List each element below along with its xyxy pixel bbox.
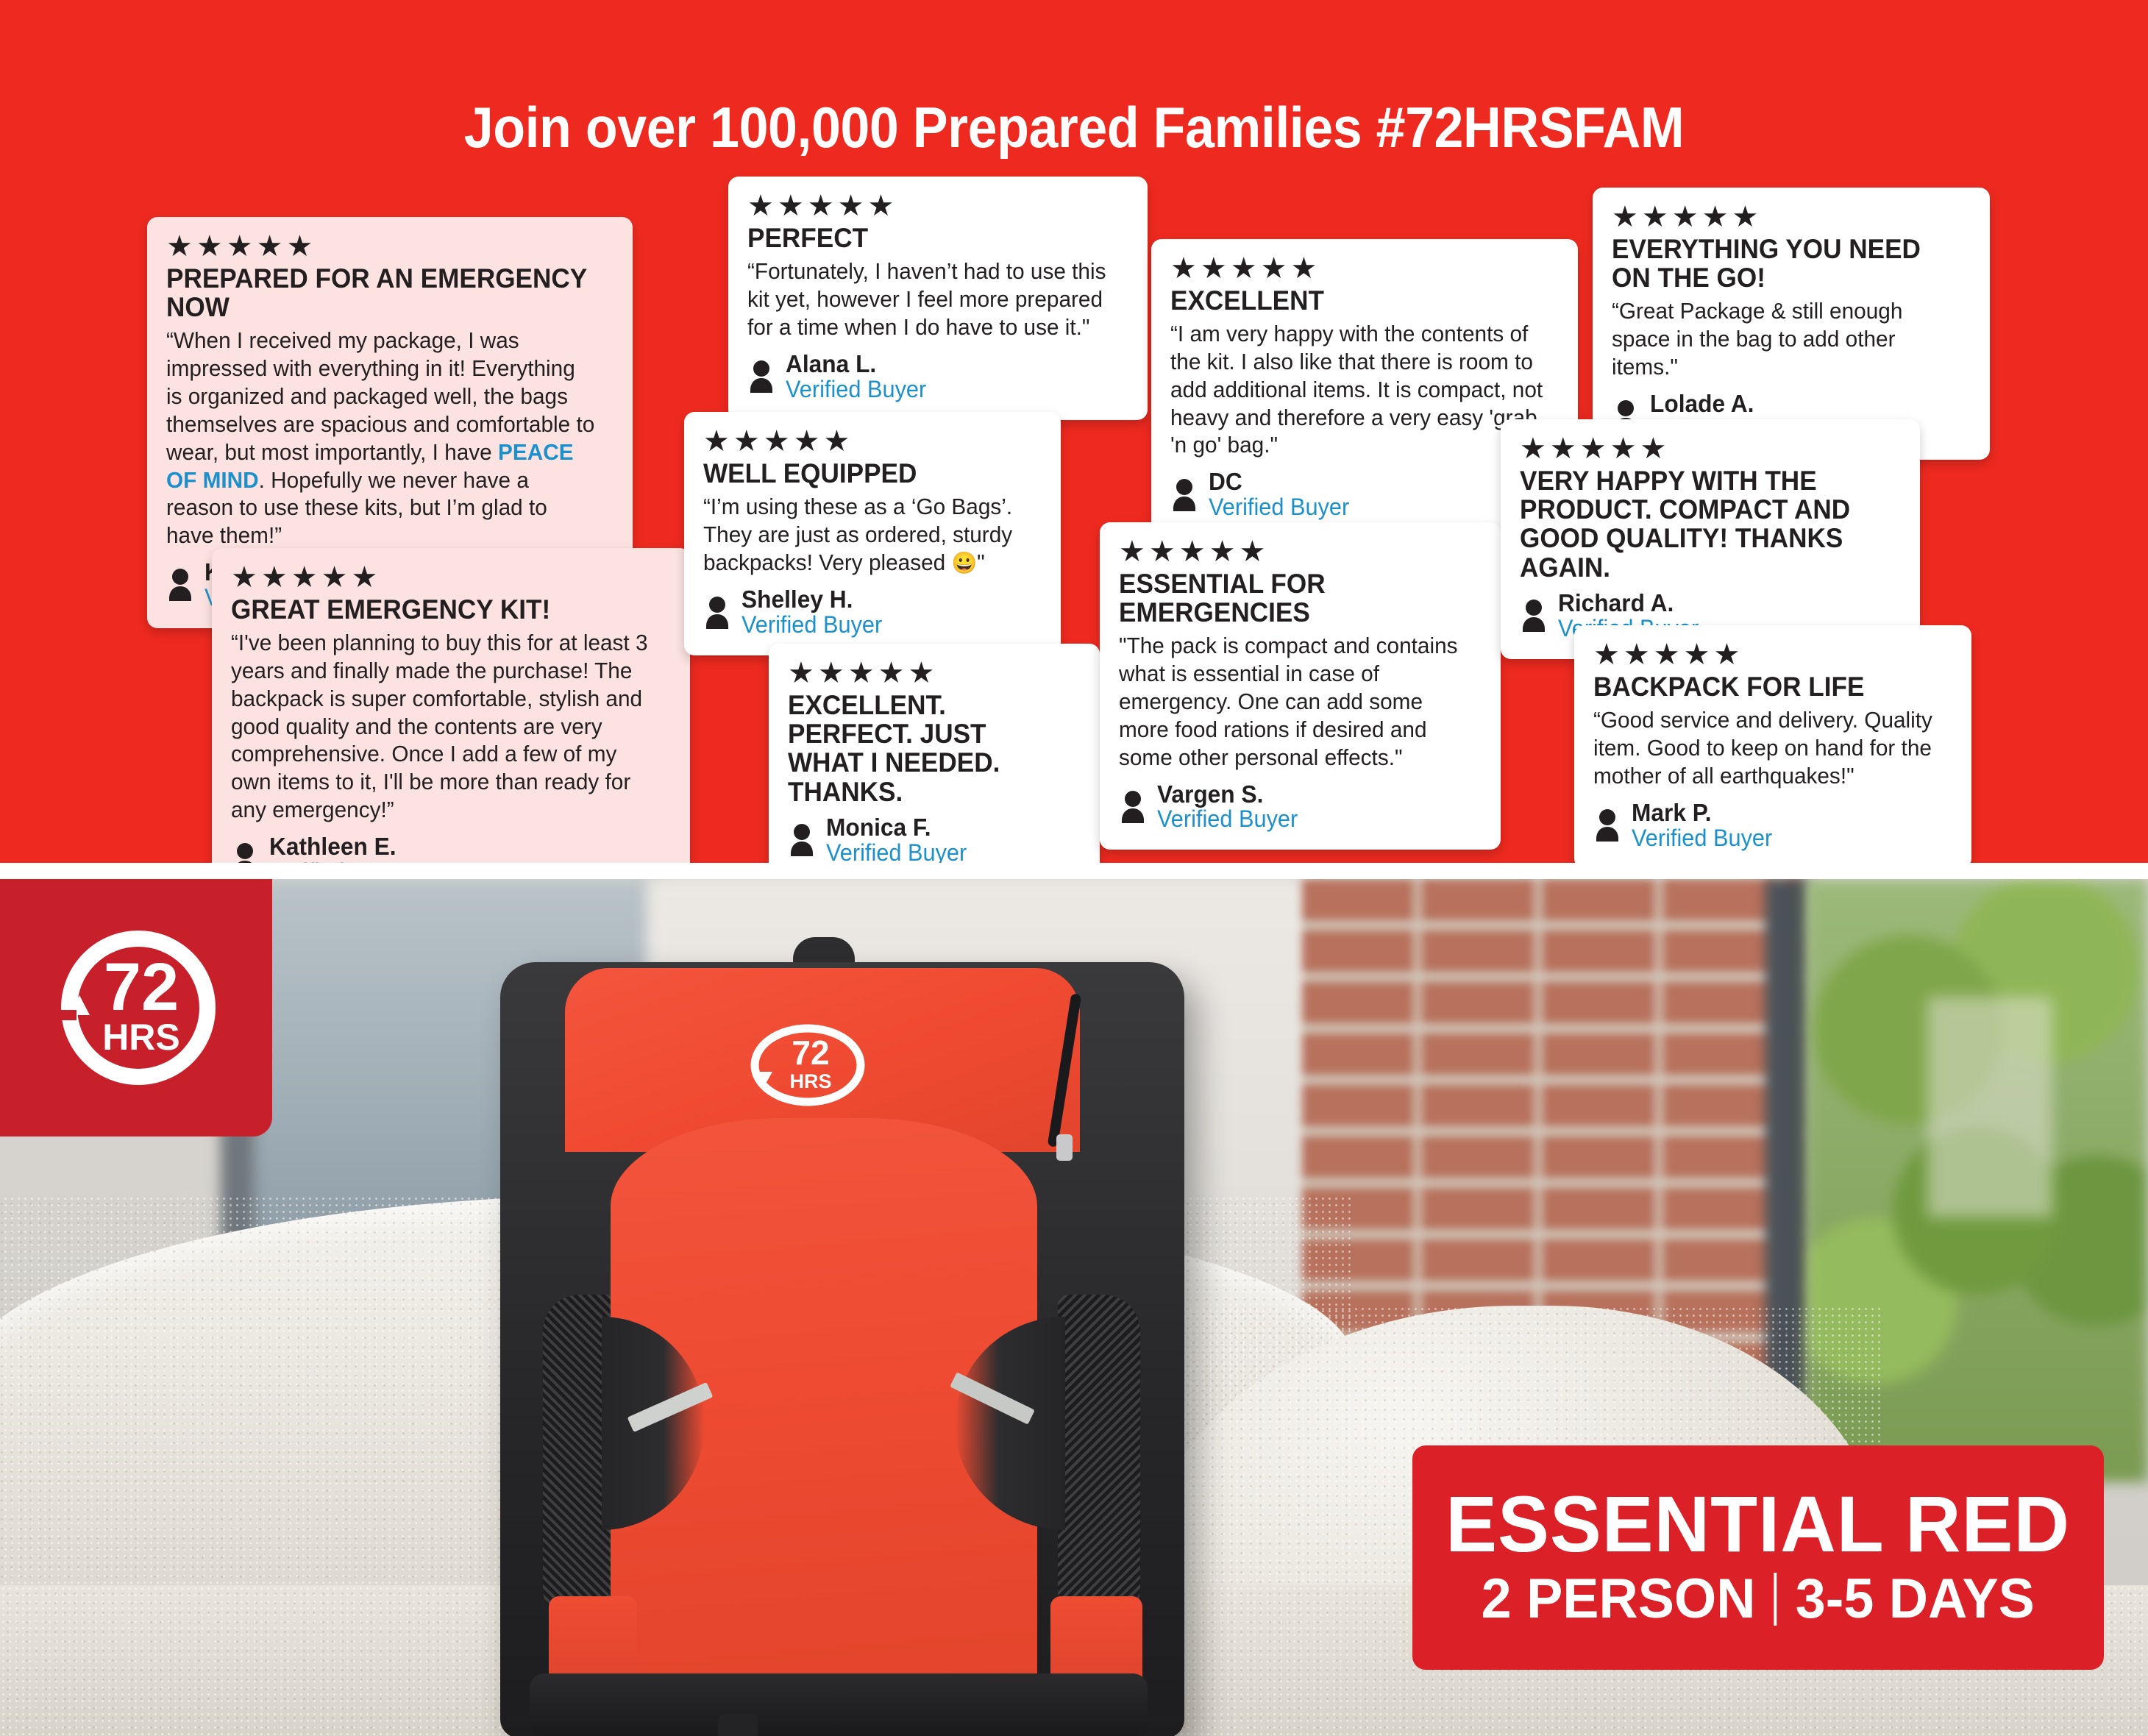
review-title: BACKPACK FOR LIFE xyxy=(1593,672,1935,701)
brand-badge: 72 HRS xyxy=(0,879,272,1136)
review-card[interactable]: ★★★★★ WELL EQUIPPED “I’m using these as … xyxy=(684,412,1061,655)
review-body: “I am very happy with the contents of th… xyxy=(1170,320,1543,459)
review-card[interactable]: ★★★★★ GREAT EMERGENCY KIT! “I've been pl… xyxy=(212,548,690,903)
review-author-name: Richard A. xyxy=(1558,591,1699,616)
review-author-name: DC xyxy=(1209,469,1349,495)
review-body: “When I received my package, I was impre… xyxy=(166,327,596,549)
review-card[interactable]: ★★★★★ EXCELLENT. PERFECT. JUST WHAT I NE… xyxy=(769,644,1100,883)
72hrs-logo-on-bag: 72 HRS xyxy=(743,1019,872,1111)
avatar-icon xyxy=(166,569,194,601)
review-body: “Fortunately, I haven’t had to use this … xyxy=(747,257,1113,341)
star-rating-icon: ★★★★★ xyxy=(1612,204,1971,230)
reviews-panel: Join over 100,000 Prepared Families #72H… xyxy=(0,0,2148,863)
review-author: Mark P. Verified Buyer xyxy=(1593,800,1952,851)
review-body: "The pack is compact and contains what i… xyxy=(1119,632,1467,771)
avatar-icon xyxy=(1520,600,1548,632)
badge-unit: HRS xyxy=(102,1017,180,1058)
bag-logo-unit: HRS xyxy=(789,1070,831,1092)
review-title: VERY HAPPY WITH THE PRODUCT. COMPACT AND… xyxy=(1520,466,1882,582)
product-spec: 2 PERSON 3-5 DAYS xyxy=(1482,1571,2035,1627)
product-duration: 3-5 DAYS xyxy=(1796,1571,2035,1627)
page-title: Join over 100,000 Prepared Families #72H… xyxy=(86,94,2062,161)
verified-buyer-label: Verified Buyer xyxy=(1157,807,1298,832)
verified-buyer-label: Verified Buyer xyxy=(826,841,967,866)
star-rating-icon: ★★★★★ xyxy=(1170,255,1559,282)
review-author: Monica F. Verified Buyer xyxy=(788,815,1081,866)
verified-buyer-label: Verified Buyer xyxy=(786,377,926,402)
star-rating-icon: ★★★★★ xyxy=(1119,538,1482,565)
review-title: EXCELLENT. PERFECT. JUST WHAT I NEEDED. … xyxy=(788,691,1066,806)
review-title: WELL EQUIPPED xyxy=(703,459,1025,488)
product-name-badge: ESSENTIAL RED 2 PERSON 3-5 DAYS xyxy=(1412,1445,2104,1670)
star-rating-icon: ★★★★★ xyxy=(747,193,1128,219)
verified-buyer-label: Verified Buyer xyxy=(742,613,882,638)
review-body-part: " xyxy=(977,549,985,575)
review-body: “Good service and delivery. Quality item… xyxy=(1593,706,1938,789)
product-persons: 2 PERSON xyxy=(1482,1571,1756,1627)
product-name: ESSENTIAL RED xyxy=(1446,1484,2071,1564)
review-author-name: Lolade A. xyxy=(1650,391,1790,417)
review-card[interactable]: ★★★★★ VERY HAPPY WITH THE PRODUCT. COMPA… xyxy=(1501,419,1920,659)
review-author: Shelley H. Verified Buyer xyxy=(703,587,1042,638)
review-author: Vargen S. Verified Buyer xyxy=(1119,782,1482,833)
spec-divider xyxy=(1774,1573,1777,1626)
backpack-side-mesh-right xyxy=(1058,1295,1140,1626)
review-author-name: Shelley H. xyxy=(742,587,882,613)
review-title: EXCELLENT xyxy=(1170,286,1540,315)
review-author-name: Mark P. xyxy=(1632,800,1772,826)
door-post xyxy=(1765,879,1810,1453)
backpack-shoulder-strap xyxy=(718,1714,758,1736)
star-rating-icon: ★★★★★ xyxy=(1593,641,1952,668)
verified-buyer-label: Verified Buyer xyxy=(1632,826,1772,851)
review-body: “I've been planning to buy this for at l… xyxy=(231,629,653,824)
avatar-icon xyxy=(1593,809,1621,842)
review-card[interactable]: ★★★★★ BACKPACK FOR LIFE “Good service an… xyxy=(1574,625,1971,869)
review-card[interactable]: ★★★★★ ESSENTIAL FOR EMERGENCIES "The pac… xyxy=(1100,522,1501,850)
review-card[interactable]: ★★★★★ PERFECT “Fortunately, I haven’t ha… xyxy=(728,177,1148,420)
review-title: EVERYTHING YOU NEED ON THE GO! xyxy=(1612,235,1953,292)
avatar-icon xyxy=(788,824,816,856)
review-author-name: Kathleen E. xyxy=(269,834,410,860)
grinning-face-emoji: 😀 xyxy=(951,552,977,575)
avatar-icon xyxy=(1170,479,1198,511)
review-title: ESSENTIAL FOR EMERGENCIES xyxy=(1119,569,1463,627)
backpack-zipper-pull xyxy=(1056,1134,1073,1161)
bag-logo-number: 72 xyxy=(792,1034,829,1072)
review-body: “Great Package & still enough space in t… xyxy=(1612,297,1956,380)
product-photo: 72 HRS ESSENTIAL RED 2 PERSON 3-5 DAYS xyxy=(0,879,2148,1736)
avatar-icon xyxy=(703,597,731,629)
star-rating-icon: ★★★★★ xyxy=(231,564,671,591)
review-title: PERFECT xyxy=(747,224,1109,252)
review-author-name: Monica F. xyxy=(826,815,967,841)
backpack: 72 HRS xyxy=(500,949,1184,1736)
avatar-icon xyxy=(747,360,775,393)
avatar-icon xyxy=(1119,791,1147,823)
promo-graphic: Join over 100,000 Prepared Families #72H… xyxy=(0,0,2148,1736)
review-author-name: Alana L. xyxy=(786,352,926,377)
review-body: “I’m using these as a ‘Go Bags’. They ar… xyxy=(703,493,1028,577)
backpack-base xyxy=(530,1673,1148,1736)
star-rating-icon: ★★★★★ xyxy=(788,660,1081,686)
star-rating-icon: ★★★★★ xyxy=(703,428,1042,455)
star-rating-icon: ★★★★★ xyxy=(166,233,614,260)
window-pane xyxy=(1927,997,2052,1217)
star-rating-icon: ★★★★★ xyxy=(1520,435,1901,462)
review-title: PREPARED FOR AN EMERGENCY NOW xyxy=(166,264,591,321)
verified-buyer-label: Verified Buyer xyxy=(1209,495,1349,520)
72hrs-logo-icon: 72 HRS xyxy=(44,916,228,1100)
section-divider xyxy=(0,863,2148,879)
review-author-name: Vargen S. xyxy=(1157,782,1298,808)
badge-number: 72 xyxy=(104,950,179,1025)
review-title: GREAT EMERGENCY KIT! xyxy=(231,595,649,624)
review-author: Alana L. Verified Buyer xyxy=(747,352,1128,402)
